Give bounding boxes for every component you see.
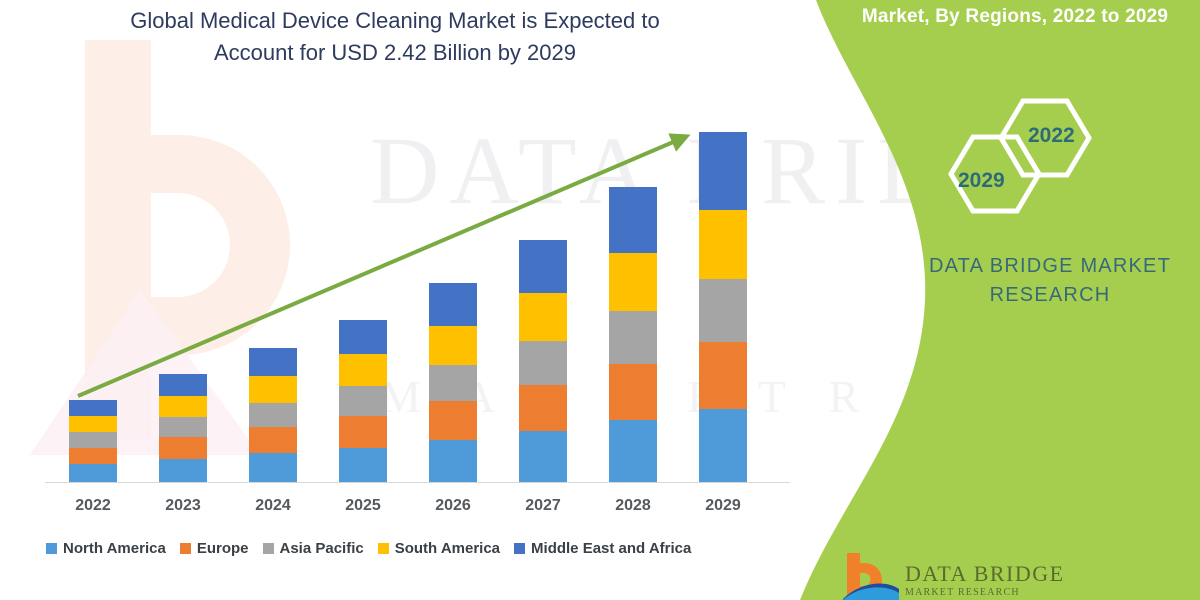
bar-segment[interactable] — [609, 311, 657, 364]
bar-segment[interactable] — [519, 293, 567, 340]
legend-swatch-icon — [378, 543, 389, 554]
bar-segment[interactable] — [69, 432, 117, 447]
legend-item[interactable]: Middle East and Africa — [514, 540, 691, 557]
bar-segment[interactable] — [699, 342, 747, 409]
stacked-bar-2023[interactable] — [159, 374, 207, 482]
stacked-bar-2029[interactable] — [699, 132, 747, 482]
stacked-bar-2028[interactable] — [609, 187, 657, 482]
bar-segment[interactable] — [609, 420, 657, 482]
legend-item[interactable]: Europe — [180, 540, 249, 557]
legend-label: Middle East and Africa — [531, 540, 691, 557]
bar-segment[interactable] — [69, 400, 117, 415]
bar-segment[interactable] — [429, 283, 477, 326]
bar-segment[interactable] — [609, 187, 657, 253]
bar-segment[interactable] — [609, 253, 657, 310]
bar-segment[interactable] — [519, 240, 567, 293]
legend-swatch-icon — [46, 543, 57, 554]
bar-segment[interactable] — [339, 354, 387, 386]
bar-segment[interactable] — [429, 365, 477, 401]
legend-item[interactable]: Asia Pacific — [263, 540, 364, 557]
bar-segment[interactable] — [159, 374, 207, 396]
stacked-bar-2025[interactable] — [339, 320, 387, 482]
bar-segment[interactable] — [339, 416, 387, 448]
bar-segment[interactable] — [519, 431, 567, 482]
bar-segment[interactable] — [249, 403, 297, 427]
bar-segment[interactable] — [69, 448, 117, 465]
legend-swatch-icon — [180, 543, 191, 554]
logo-name-line2: MARKET RESEARCH — [905, 587, 1020, 598]
bar-segment[interactable] — [159, 417, 207, 437]
legend-label: Asia Pacific — [280, 540, 364, 557]
bar-segment[interactable] — [609, 364, 657, 420]
x-axis-line — [45, 482, 790, 483]
logo-name-line1: DATA BRIDGE — [905, 561, 1065, 587]
hexagon-pair-decoration — [925, 95, 1115, 220]
x-axis-tick-2029: 2029 — [678, 497, 768, 515]
x-axis-tick-2028: 2028 — [588, 497, 678, 515]
bar-segment[interactable] — [69, 464, 117, 482]
bar-segment[interactable] — [339, 386, 387, 416]
legend-label: North America — [63, 540, 166, 557]
infographic-canvas: DATA BRIDGE M A R K E T R E S E A R C H … — [0, 0, 1200, 600]
bar-segment[interactable] — [699, 210, 747, 278]
panel-header-text: Market, By Regions, 2022 to 2029 — [840, 4, 1190, 30]
x-axis-tick-2027: 2027 — [498, 497, 588, 515]
bar-segment[interactable] — [699, 132, 747, 210]
bar-segment[interactable] — [159, 459, 207, 482]
hexagon-2022-label: 2022 — [1028, 124, 1075, 148]
x-axis-tick-2023: 2023 — [138, 497, 228, 515]
bar-segment[interactable] — [429, 326, 477, 365]
legend-item[interactable]: South America — [378, 540, 500, 557]
bar-segment[interactable] — [519, 385, 567, 431]
bar-segment[interactable] — [429, 440, 477, 482]
brand-name-line1: DATA BRIDGE MARKET — [900, 255, 1200, 278]
chart-legend: North AmericaEuropeAsia PacificSouth Ame… — [46, 540, 786, 557]
bar-segment[interactable] — [249, 376, 297, 402]
legend-item[interactable]: North America — [46, 540, 166, 557]
bar-segment[interactable] — [339, 320, 387, 354]
bar-segment[interactable] — [339, 448, 387, 482]
bar-segment[interactable] — [249, 427, 297, 453]
legend-label: Europe — [197, 540, 249, 557]
stacked-bar-2026[interactable] — [429, 283, 477, 482]
brand-name-line2: RESEARCH — [900, 284, 1200, 307]
stacked-bar-2024[interactable] — [249, 348, 297, 482]
databridge-b-mark-icon — [843, 553, 901, 600]
x-axis-tick-2022: 2022 — [48, 497, 138, 515]
x-axis-tick-2025: 2025 — [318, 497, 408, 515]
bar-segment[interactable] — [429, 401, 477, 440]
bar-segment[interactable] — [159, 396, 207, 417]
hexagon-2029-label: 2029 — [958, 169, 1005, 193]
bar-segment[interactable] — [159, 437, 207, 459]
x-axis-tick-2024: 2024 — [228, 497, 318, 515]
legend-swatch-icon — [514, 543, 525, 554]
legend-swatch-icon — [263, 543, 274, 554]
databridge-logo: DATA BRIDGE MARKET RESEARCH — [843, 553, 1193, 600]
bar-segment[interactable] — [519, 341, 567, 385]
stacked-bar-2027[interactable] — [519, 240, 567, 482]
bar-segment[interactable] — [699, 279, 747, 342]
stacked-bar-2022[interactable] — [69, 400, 117, 482]
bar-segment[interactable] — [249, 453, 297, 482]
legend-label: South America — [395, 540, 500, 557]
bar-segment[interactable] — [249, 348, 297, 376]
bar-segment[interactable] — [69, 416, 117, 433]
x-axis-tick-2026: 2026 — [408, 497, 498, 515]
bar-segment[interactable] — [699, 409, 747, 482]
chart-plot-area: 20222023202420252026202720282029 — [0, 0, 800, 600]
